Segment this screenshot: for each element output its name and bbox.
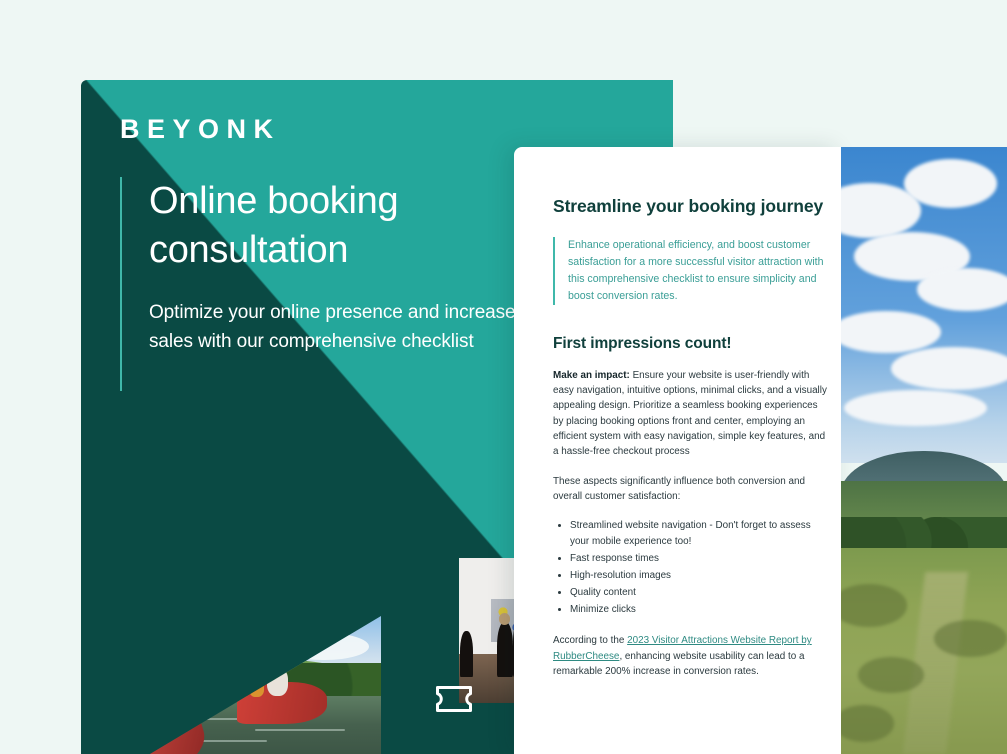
photo-cloud xyxy=(189,635,255,657)
photo-visitor xyxy=(497,622,513,677)
accent-rule xyxy=(120,177,122,391)
list-item: Streamlined website navigation - Don't f… xyxy=(570,518,828,548)
photo-visitor xyxy=(460,631,473,677)
document-paragraph: Make an impact: Ensure your website is u… xyxy=(553,368,828,459)
photo-water xyxy=(81,696,381,754)
ticket-icon xyxy=(434,684,474,714)
photo-paddler xyxy=(267,668,288,696)
photo-cloud xyxy=(891,347,1007,389)
headline-block: Online booking consultation Optimize you… xyxy=(120,177,520,356)
beyonk-logo: BEYONK xyxy=(120,116,281,143)
paragraph-lead-label: Make an impact: xyxy=(553,370,630,381)
countryside-hills-photo xyxy=(841,147,1007,754)
photo-ripple xyxy=(201,740,267,742)
photo-visitor-head xyxy=(499,613,511,625)
footnote-prefix: According to the xyxy=(553,635,627,646)
document-content: Streamline your booking journey Enhance … xyxy=(553,194,828,679)
photo-cloud xyxy=(279,633,369,661)
page-title: Online booking consultation xyxy=(149,177,520,276)
photo-cloud xyxy=(844,390,987,426)
list-item: Minimize clicks xyxy=(570,602,828,617)
document-panel: Streamline your booking journey Enhance … xyxy=(514,147,841,754)
list-item: Fast response times xyxy=(570,551,828,566)
photo-cloud xyxy=(225,622,327,658)
photo-canoe-near xyxy=(81,668,211,754)
document-bullet-list: Streamlined website navigation - Don't f… xyxy=(553,518,828,617)
canoeing-river-photo xyxy=(81,616,381,754)
document-callout-quote: Enhance operational efficiency, and boos… xyxy=(553,237,828,306)
photo-scrub xyxy=(934,620,1007,656)
document-footnote: According to the 2023 Visitor Attraction… xyxy=(553,633,828,678)
page-canvas: BEYONK Online booking consultation Optim… xyxy=(0,0,1007,754)
photo-cloud xyxy=(904,159,997,208)
list-item: Quality content xyxy=(570,585,828,600)
paragraph-body-text: Ensure your website is user-friendly wit… xyxy=(553,370,827,457)
photo-ripple xyxy=(255,729,345,731)
page-subtitle: Optimize your online presence and increa… xyxy=(149,298,520,356)
photo-paddler xyxy=(249,679,264,697)
document-list-intro: These aspects significantly influence bo… xyxy=(553,474,828,504)
photo-scrub xyxy=(858,657,924,693)
document-heading: Streamline your booking journey xyxy=(553,194,828,220)
photo-cloud xyxy=(917,268,1007,310)
list-item: High-resolution images xyxy=(570,568,828,583)
document-section-heading: First impressions count! xyxy=(553,335,828,353)
